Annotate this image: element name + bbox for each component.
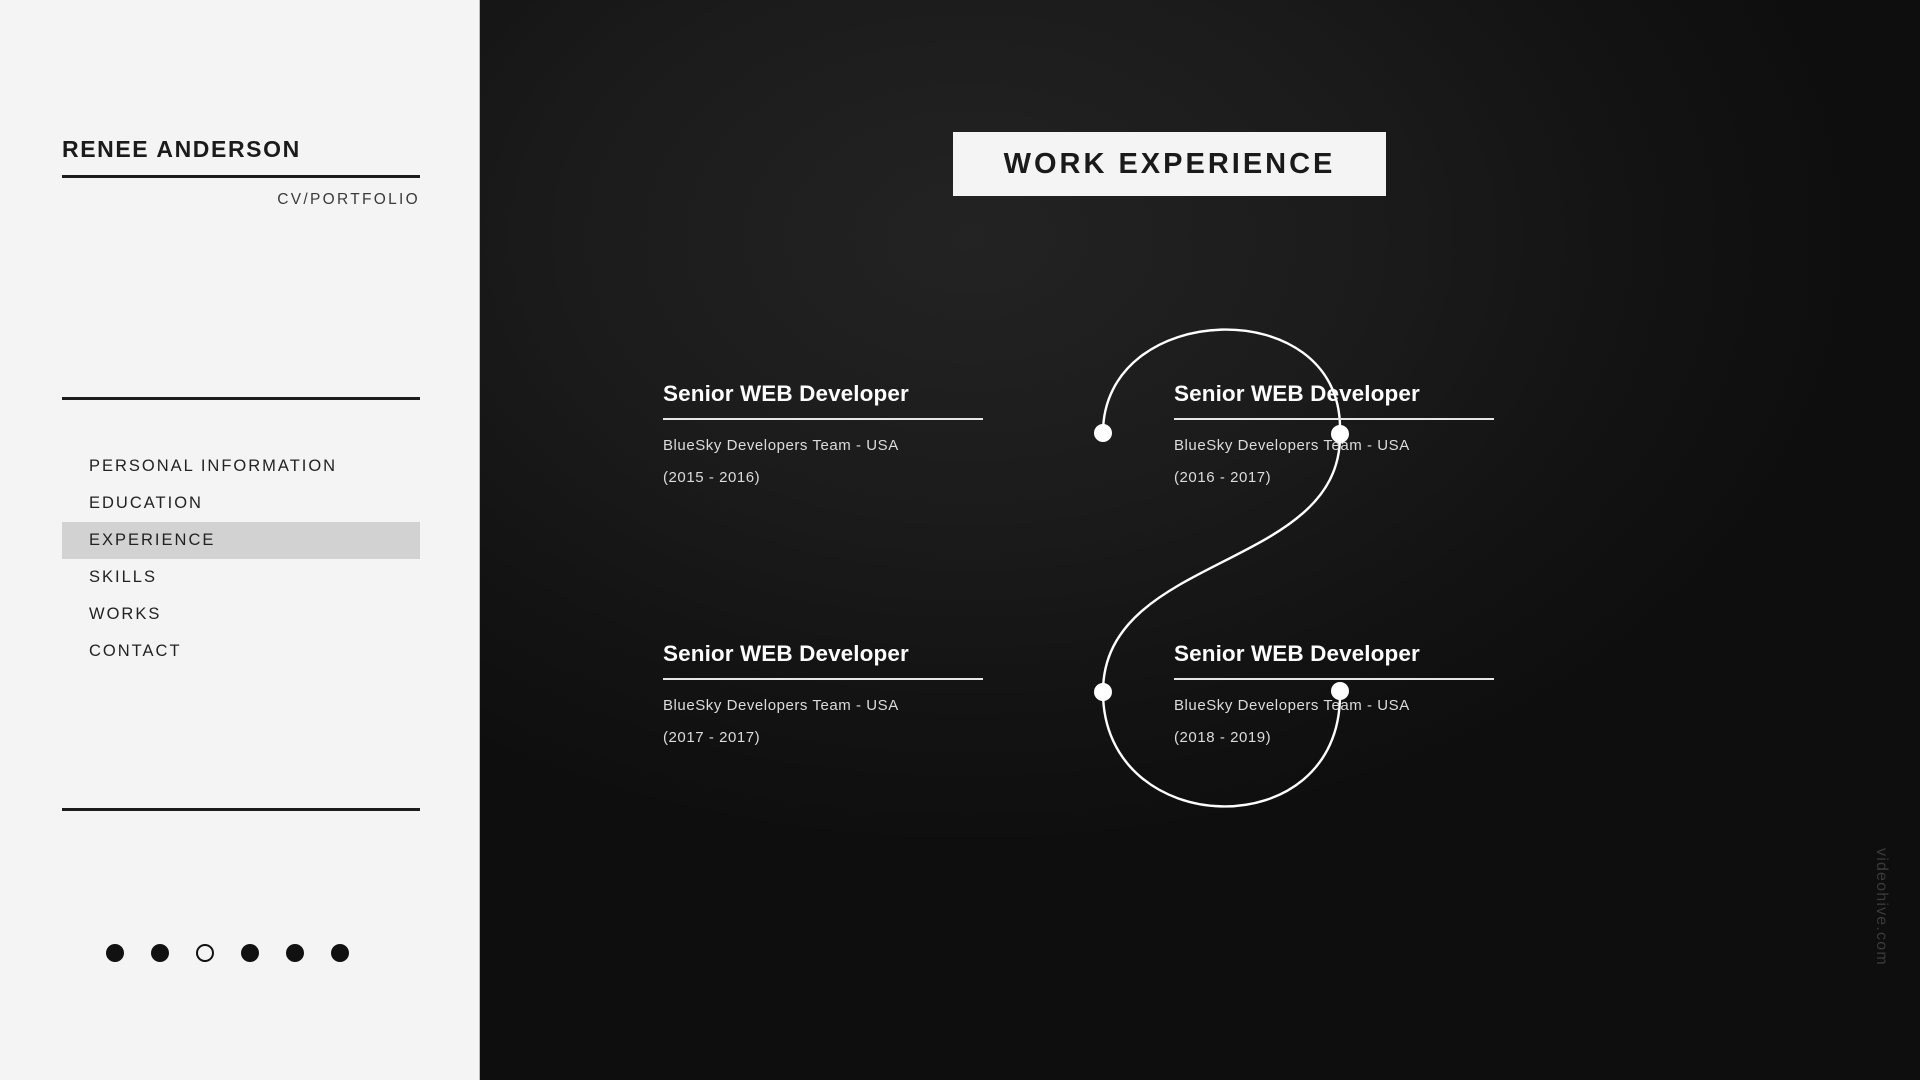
s-curve-timeline-graphic: [920, 240, 1480, 920]
experience-company: BlueSky Developers Team - USA: [663, 697, 983, 714]
experience-title: Senior WEB Developer: [1174, 382, 1494, 407]
pagination-dots: [106, 944, 349, 962]
experience-underline: [1174, 678, 1494, 680]
pagination-dot-1[interactable]: [106, 944, 124, 962]
brand-divider: [62, 175, 420, 178]
sidebar-item-label: SKILLS: [89, 568, 157, 587]
sidebar-divider-top: [62, 397, 420, 400]
pagination-dot-6[interactable]: [331, 944, 349, 962]
timeline-node-bottom-left[interactable]: [1094, 683, 1112, 701]
pagination-dot-4[interactable]: [241, 944, 259, 962]
section-title-box: WORK EXPERIENCE: [953, 132, 1386, 196]
sidebar-item-label: CONTACT: [89, 642, 182, 661]
experience-card-3: Senior WEB Developer BlueSky Developers …: [663, 642, 983, 746]
experience-title: Senior WEB Developer: [663, 382, 983, 407]
brand-block: RENEE ANDERSON CV/PORTFOLIO: [62, 138, 420, 209]
sidebar-item-label: WORKS: [89, 605, 161, 624]
experience-title: Senior WEB Developer: [1174, 642, 1494, 667]
sidebar-item-label: PERSONAL INFORMATION: [89, 457, 337, 476]
page-title: WORK EXPERIENCE: [1004, 148, 1336, 181]
experience-title: Senior WEB Developer: [663, 642, 983, 667]
sidebar-item-skills[interactable]: SKILLS: [62, 559, 420, 596]
sidebar-item-personal-information[interactable]: PERSONAL INFORMATION: [62, 448, 420, 485]
experience-years: (2016 - 2017): [1174, 469, 1494, 486]
watermark: videohive.com: [1872, 848, 1890, 966]
sidebar-divider-bottom: [62, 808, 420, 811]
pagination-dot-5[interactable]: [286, 944, 304, 962]
sidebar-nav: PERSONAL INFORMATION EDUCATION EXPERIENC…: [62, 448, 420, 670]
sidebar: RENEE ANDERSON CV/PORTFOLIO PERSONAL INF…: [0, 0, 480, 1080]
experience-company: BlueSky Developers Team - USA: [1174, 437, 1494, 454]
main-panel: WORK EXPERIENCE Senior WEB Developer Blu…: [480, 0, 1920, 1080]
sidebar-item-education[interactable]: EDUCATION: [62, 485, 420, 522]
experience-years: (2018 - 2019): [1174, 729, 1494, 746]
experience-company: BlueSky Developers Team - USA: [663, 437, 983, 454]
experience-card-1: Senior WEB Developer BlueSky Developers …: [663, 382, 983, 486]
experience-underline: [663, 418, 983, 420]
sidebar-item-label: EXPERIENCE: [89, 531, 215, 550]
experience-card-4: Senior WEB Developer BlueSky Developers …: [1174, 642, 1494, 746]
experience-company: BlueSky Developers Team - USA: [1174, 697, 1494, 714]
experience-card-2: Senior WEB Developer BlueSky Developers …: [1174, 382, 1494, 486]
experience-underline: [1174, 418, 1494, 420]
brand-subtitle: CV/PORTFOLIO: [62, 191, 420, 209]
sidebar-item-label: EDUCATION: [89, 494, 203, 513]
sidebar-item-contact[interactable]: CONTACT: [62, 633, 420, 670]
experience-underline: [663, 678, 983, 680]
pagination-dot-3-active[interactable]: [196, 944, 214, 962]
experience-years: (2015 - 2016): [663, 469, 983, 486]
brand-name: RENEE ANDERSON: [62, 138, 420, 161]
sidebar-item-experience[interactable]: EXPERIENCE: [62, 522, 420, 559]
pagination-dot-2[interactable]: [151, 944, 169, 962]
experience-years: (2017 - 2017): [663, 729, 983, 746]
timeline-node-top-left[interactable]: [1094, 424, 1112, 442]
sidebar-item-works[interactable]: WORKS: [62, 596, 420, 633]
